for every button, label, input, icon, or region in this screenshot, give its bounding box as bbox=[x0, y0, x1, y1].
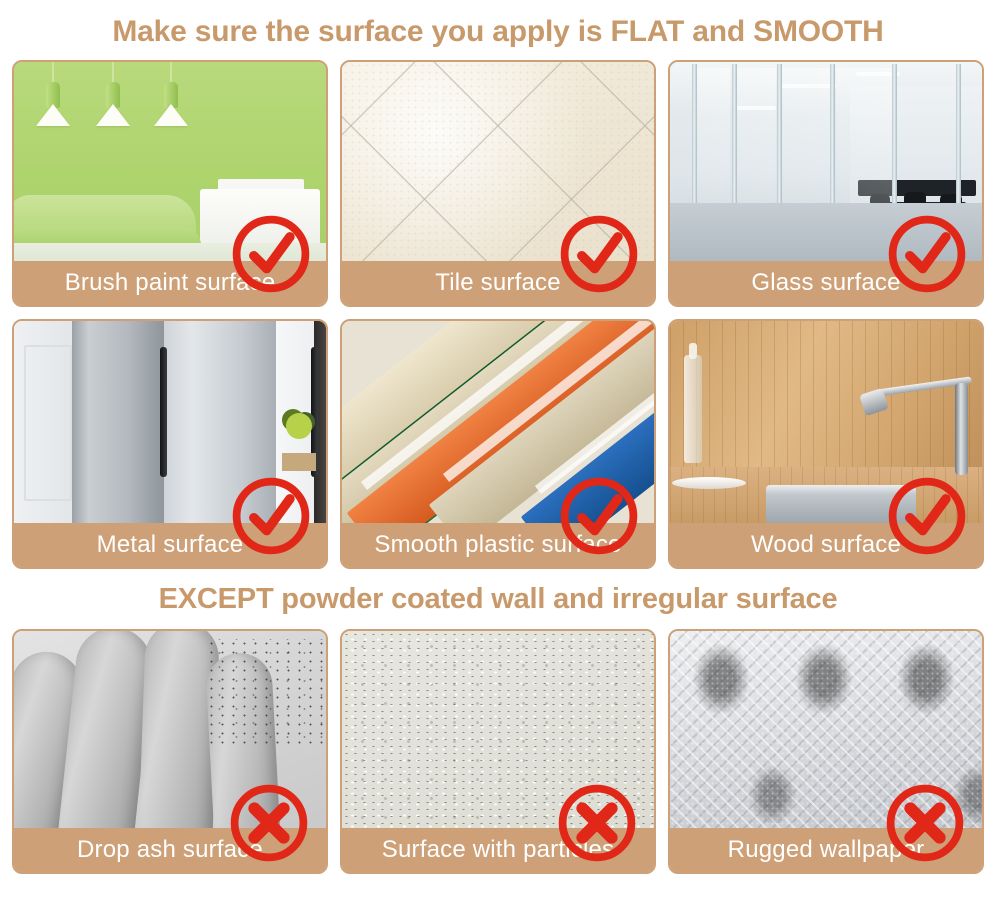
unsuitable-surface-row: Drop ash surface Surface with particles bbox=[0, 629, 996, 874]
cross-icon bbox=[554, 780, 640, 866]
check-icon bbox=[228, 473, 314, 559]
check-icon bbox=[884, 473, 970, 559]
surface-card-particles[interactable]: Surface with particles bbox=[340, 629, 656, 874]
suitable-surface-row-1: Brush paint surface Tile surface bbox=[0, 60, 996, 307]
cross-icon bbox=[226, 780, 312, 866]
suitable-surface-row-2: Metal surface bbox=[0, 319, 996, 569]
surface-card-wood[interactable]: Wood surface bbox=[668, 319, 984, 569]
cross-icon bbox=[882, 780, 968, 866]
check-icon bbox=[556, 211, 642, 297]
check-icon bbox=[884, 211, 970, 297]
check-icon bbox=[228, 211, 314, 297]
surface-card-drop-ash[interactable]: Drop ash surface bbox=[12, 629, 328, 874]
surface-card-glass[interactable]: Glass surface bbox=[668, 60, 984, 307]
check-icon bbox=[556, 473, 642, 559]
page-title-top: Make sure the surface you apply is FLAT … bbox=[0, 0, 996, 60]
infographic-page: Make sure the surface you apply is FLAT … bbox=[0, 0, 996, 920]
surface-card-metal[interactable]: Metal surface bbox=[12, 319, 328, 569]
surface-card-rugged-wallpaper[interactable]: Rugged wallpaper bbox=[668, 629, 984, 874]
surface-card-tile[interactable]: Tile surface bbox=[340, 60, 656, 307]
page-title-bottom: EXCEPT powder coated wall and irregular … bbox=[0, 569, 996, 629]
surface-card-smooth-plastic[interactable]: Smooth plastic surface bbox=[340, 319, 656, 569]
surface-card-brush-paint[interactable]: Brush paint surface bbox=[12, 60, 328, 307]
